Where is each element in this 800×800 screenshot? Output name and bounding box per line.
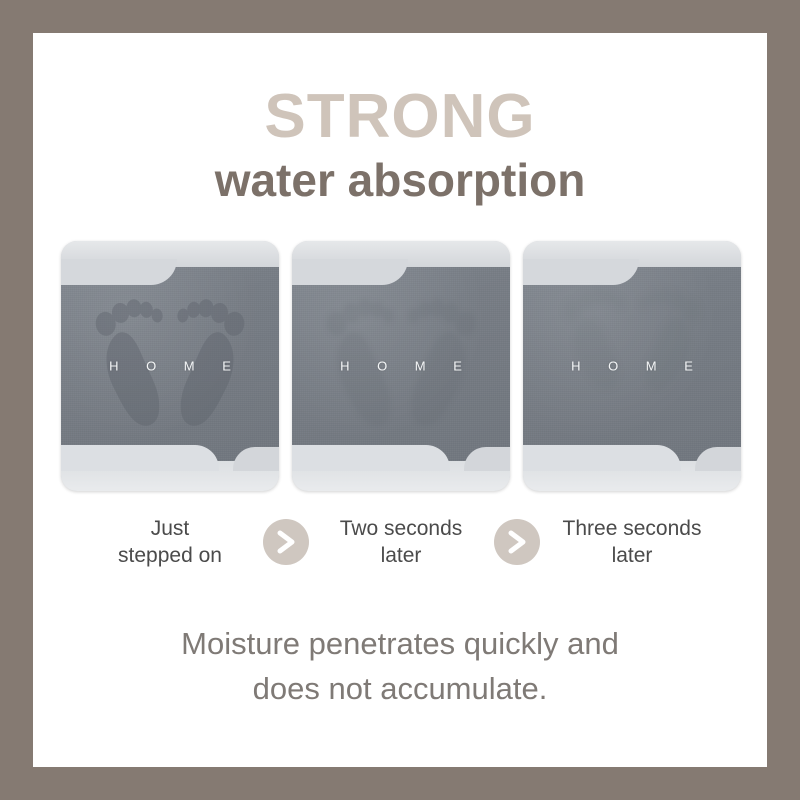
mat-brand-label: H O M E: [292, 359, 510, 374]
caption-line-1: Three seconds: [523, 515, 741, 542]
mat-panel-1: H O M E: [61, 241, 279, 491]
caption-panel-3: Three seconds later: [523, 515, 741, 569]
mat-brand-label: H O M E: [523, 359, 741, 374]
caption-line-1: Two seconds: [292, 515, 510, 542]
caption-line-2: later: [292, 542, 510, 569]
footer-line-2: does not accumulate.: [73, 666, 727, 711]
mat-brand-label: H O M E: [61, 359, 279, 374]
footer-tagline: Moisture penetrates quickly and does not…: [73, 621, 727, 711]
product-poster: STRONG water absorption: [0, 0, 800, 800]
headline-secondary: water absorption: [33, 155, 767, 205]
caption-line-2: later: [523, 542, 741, 569]
caption-line-1: Just: [61, 515, 279, 542]
chevron-right-icon: [494, 519, 540, 565]
footprints-icon: [555, 270, 710, 422]
caption-line-2: stepped on: [61, 542, 279, 569]
poster-content-area: STRONG water absorption: [33, 33, 767, 767]
mat-panels-row: H O M E: [61, 241, 741, 493]
mat-corner-highlight-bottom-left: [61, 445, 219, 471]
chevron-right-icon: [263, 519, 309, 565]
caption-row: Just stepped on Two seconds later: [61, 505, 741, 579]
mat-corner-highlight-bottom-left: [292, 445, 450, 471]
caption-panel-2: Two seconds later: [292, 515, 510, 569]
footer-line-1: Moisture penetrates quickly and: [73, 621, 727, 666]
mat-panel-3: H O M E: [523, 241, 741, 491]
mat-corner-highlight-bottom-left: [523, 445, 681, 471]
headline-primary: STRONG: [33, 85, 767, 149]
caption-panel-1: Just stepped on: [61, 515, 279, 569]
headline-block: STRONG water absorption: [33, 85, 767, 205]
mat-panel-2: H O M E: [292, 241, 510, 491]
